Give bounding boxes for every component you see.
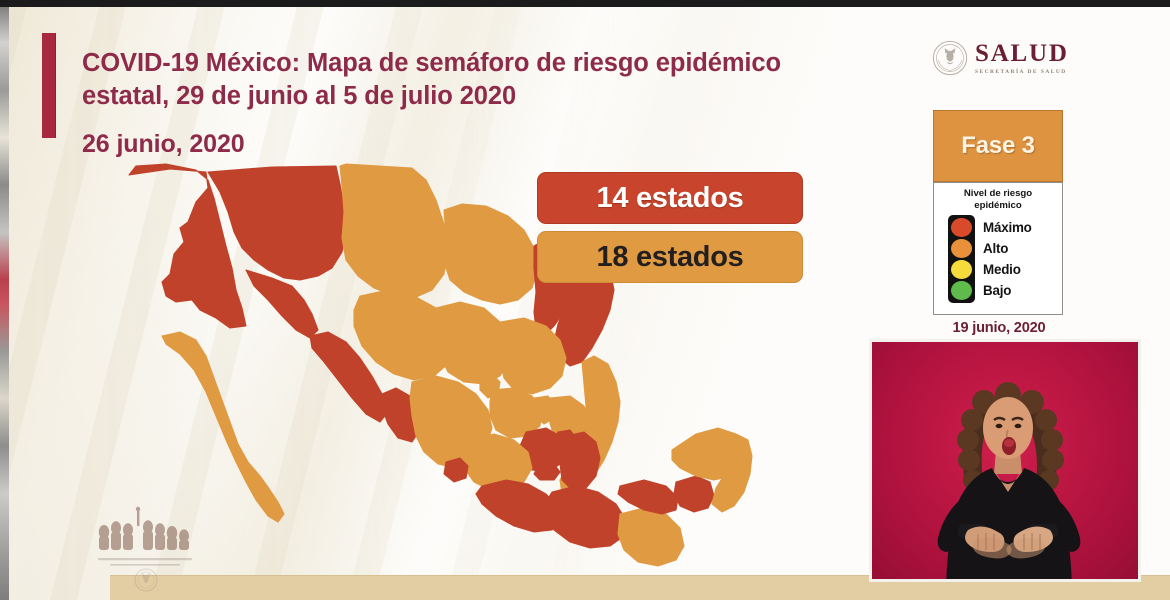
page-title: COVID-19 México: Mapa de semáforo de rie… [82, 47, 872, 113]
count-badge-alto: 18 estados [537, 231, 803, 283]
risk-legend-title: Nivel de riesgo epidémico [934, 188, 1062, 211]
state-coahuila [444, 204, 538, 304]
state-zacatecas [436, 302, 510, 384]
legend-label-bajo: Bajo [983, 280, 1032, 301]
mexican-eagle-seal-icon [932, 40, 968, 76]
phase-badge: Fase 3 [933, 110, 1063, 182]
salud-subtitle: SECRETARÍA DE SALUD [975, 69, 1069, 75]
sign-language-interpreter-video [869, 339, 1141, 582]
sign-language-interpreter-icon [872, 342, 1141, 582]
count-badge-alto-label: 18 estados [597, 241, 744, 274]
gobierno-de-mexico-logo-icon [88, 506, 208, 592]
state-morelos [534, 464, 560, 480]
slide-canvas: COVID-19 México: Mapa de semáforo de rie… [0, 0, 1170, 600]
traffic-light-icon [948, 215, 975, 303]
legend-label-medio: Medio [983, 259, 1032, 280]
state-sonora-coast [246, 270, 318, 338]
phase-label: Fase 3 [961, 132, 1035, 160]
lamp-alto [951, 239, 972, 258]
risk-legend-body: Máximo Alto Medio Bajo [934, 211, 1062, 303]
left-edge-film-strip [0, 7, 9, 600]
lamp-maximo [951, 218, 972, 237]
risk-legend-labels: Máximo Alto Medio Bajo [983, 217, 1032, 301]
legend-date: 19 junio, 2020 [933, 320, 1065, 336]
legend-label-alto: Alto [983, 238, 1032, 259]
state-san-luis-potosi [500, 318, 566, 394]
salud-wordmark-group: SALUD SECRETARÍA DE SALUD [975, 41, 1069, 75]
lamp-medio [951, 260, 972, 279]
risk-legend: Nivel de riesgo epidémico Máximo Alto Me… [933, 182, 1063, 315]
state-tabasco [618, 480, 678, 514]
salud-wordmark: SALUD [975, 41, 1069, 66]
count-badge-maximo-label: 14 estados [597, 182, 744, 215]
lamp-bajo [951, 281, 972, 300]
state-campeche [674, 476, 714, 512]
title-accent-bar [42, 33, 56, 138]
state-chiapas [618, 508, 684, 566]
state-oaxaca [546, 486, 626, 548]
state-baja-california-sur [162, 332, 284, 522]
legend-label-maximo: Máximo [983, 217, 1032, 238]
salud-logo: SALUD SECRETARÍA DE SALUD [932, 36, 1080, 80]
state-chihuahua [340, 164, 448, 298]
letterbox-top-bar [0, 0, 1170, 7]
count-badge-maximo: 14 estados [537, 172, 803, 224]
